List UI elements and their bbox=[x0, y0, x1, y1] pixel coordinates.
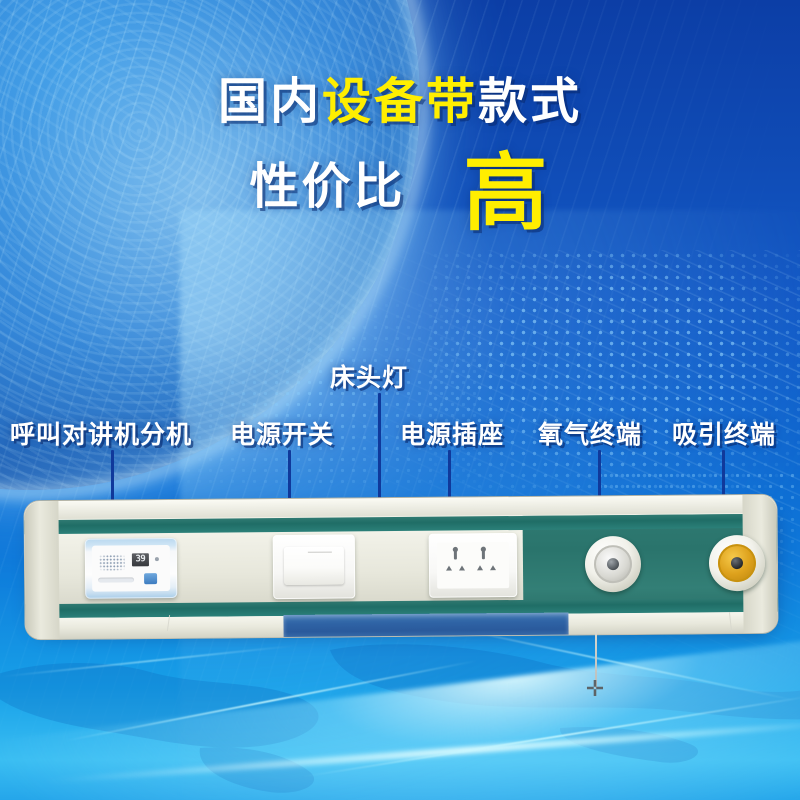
product-banner: 国内设备带款式 性价比高 呼叫对讲机分机 电源开关 床头灯 电源插座 氧气终端 … bbox=[0, 0, 800, 800]
oxygen-terminal[interactable] bbox=[585, 536, 641, 592]
oxygen-terminal-ring bbox=[594, 545, 632, 583]
intercom-display: 39 bbox=[132, 553, 149, 566]
callout-label-suction-terminal: 吸引终端 bbox=[672, 415, 776, 451]
halftone-map-dots-left bbox=[150, 300, 480, 490]
suction-terminal-ring bbox=[718, 544, 756, 582]
suction-terminal[interactable] bbox=[709, 535, 765, 591]
callout-label-intercom: 呼叫对讲机分机 bbox=[10, 415, 192, 451]
switch-indent-line bbox=[308, 552, 332, 553]
intercom-faceplate: 39 bbox=[92, 545, 170, 592]
callout-label-oxygen-terminal: 氧气终端 bbox=[538, 415, 642, 451]
switch-rocker[interactable] bbox=[284, 546, 344, 585]
panel-body: 39 bbox=[23, 494, 778, 641]
panel-end-cap-left bbox=[24, 501, 59, 640]
power-switch[interactable] bbox=[273, 534, 356, 599]
bed-lamp-diffuser[interactable] bbox=[283, 613, 568, 641]
callout-label-bed-lamp: 床头灯 bbox=[330, 358, 408, 394]
medical-equipment-panel: 39 bbox=[24, 497, 778, 637]
nurse-call-intercom[interactable]: 39 bbox=[85, 538, 178, 599]
socket-holes-icon bbox=[437, 542, 509, 589]
intercom-slot bbox=[98, 577, 134, 582]
pull-cord-hook-icon: ✛ bbox=[584, 678, 606, 700]
speaker-grille-icon bbox=[99, 554, 125, 570]
oxygen-terminal-port bbox=[607, 558, 619, 570]
callout-label-power-socket: 电源插座 bbox=[400, 415, 504, 451]
socket-faceplate bbox=[437, 542, 509, 589]
intercom-call-button[interactable] bbox=[144, 573, 157, 584]
power-socket[interactable] bbox=[429, 533, 518, 598]
suction-terminal-port bbox=[731, 557, 743, 569]
halftone-map-dots bbox=[430, 250, 800, 490]
callout-label-power-switch: 电源开关 bbox=[230, 415, 334, 451]
status-led-icon bbox=[155, 557, 159, 561]
